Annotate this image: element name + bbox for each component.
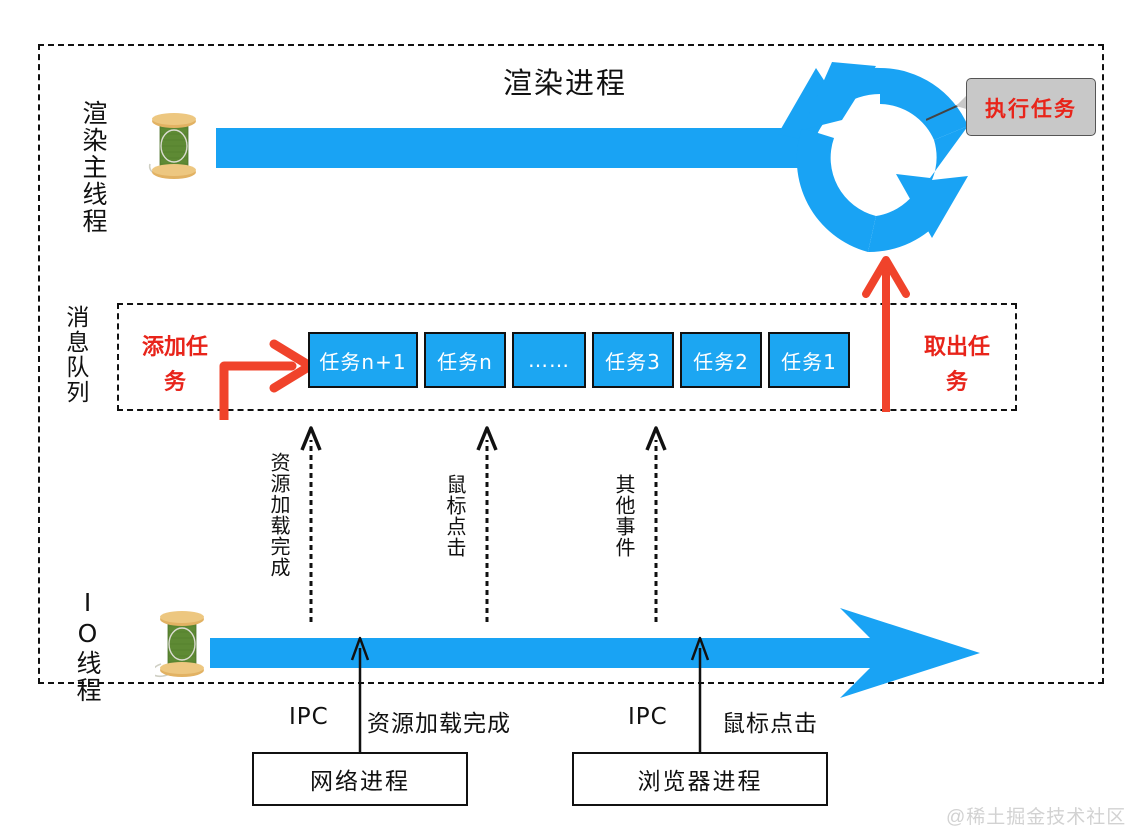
task-item-ellipsis: …… [512,332,586,388]
event-label: 其他事件 [613,474,635,558]
io-thread-arrow-bar [210,608,980,698]
network-process-box[interactable]: 网络进程 [252,752,468,806]
task-list: 任务n+1 任务n …… 任务3 任务2 任务1 [308,332,850,388]
task-item[interactable]: 任务n [424,332,506,388]
execute-task-callout: 执行任务 [966,78,1096,136]
watermark: @稀土掘金技术社区 [946,802,1126,829]
add-task-arrow-icon [214,336,316,420]
event-label: 鼠标点击 [444,474,466,558]
message-queue-label: 消息队列 [62,305,87,405]
thread-spool-icon [155,606,209,684]
io-thread-label: IO线程 [74,588,101,704]
circular-refresh-arrow-icon [772,56,988,266]
main-thread-label: 渲染主线程 [80,100,107,235]
event-arrow-icon [476,424,498,622]
task-item[interactable]: 任务n+1 [308,332,418,388]
event-arrow-icon [645,424,667,622]
task-item[interactable]: 任务3 [592,332,674,388]
ipc-channel-label: IPC [628,704,668,730]
task-item[interactable]: 任务1 [768,332,850,388]
add-task-label: 添加任务 [140,330,210,400]
take-task-label: 取出任务 [922,330,992,400]
execute-task-callout-label: 执行任务 [967,93,1095,123]
ipc-message-label: 资源加载完成 [367,704,511,738]
event-label: 资源加载完成 [268,452,290,578]
task-item[interactable]: 任务2 [680,332,762,388]
main-thread-timeline-bar [216,128,816,168]
browser-process-box[interactable]: 浏览器进程 [572,752,828,806]
ipc-channel-label: IPC [289,704,329,730]
ipc-arrow-icon [690,636,710,752]
take-task-arrow-icon [862,252,910,412]
diagram-canvas: 渲染进程 渲染主线程 [0,0,1142,834]
page-title: 渲染进程 [503,60,627,102]
event-arrow-icon [300,424,322,622]
callout-tail [926,96,970,122]
thread-spool-icon [147,108,201,186]
ipc-message-label: 鼠标点击 [722,704,818,738]
